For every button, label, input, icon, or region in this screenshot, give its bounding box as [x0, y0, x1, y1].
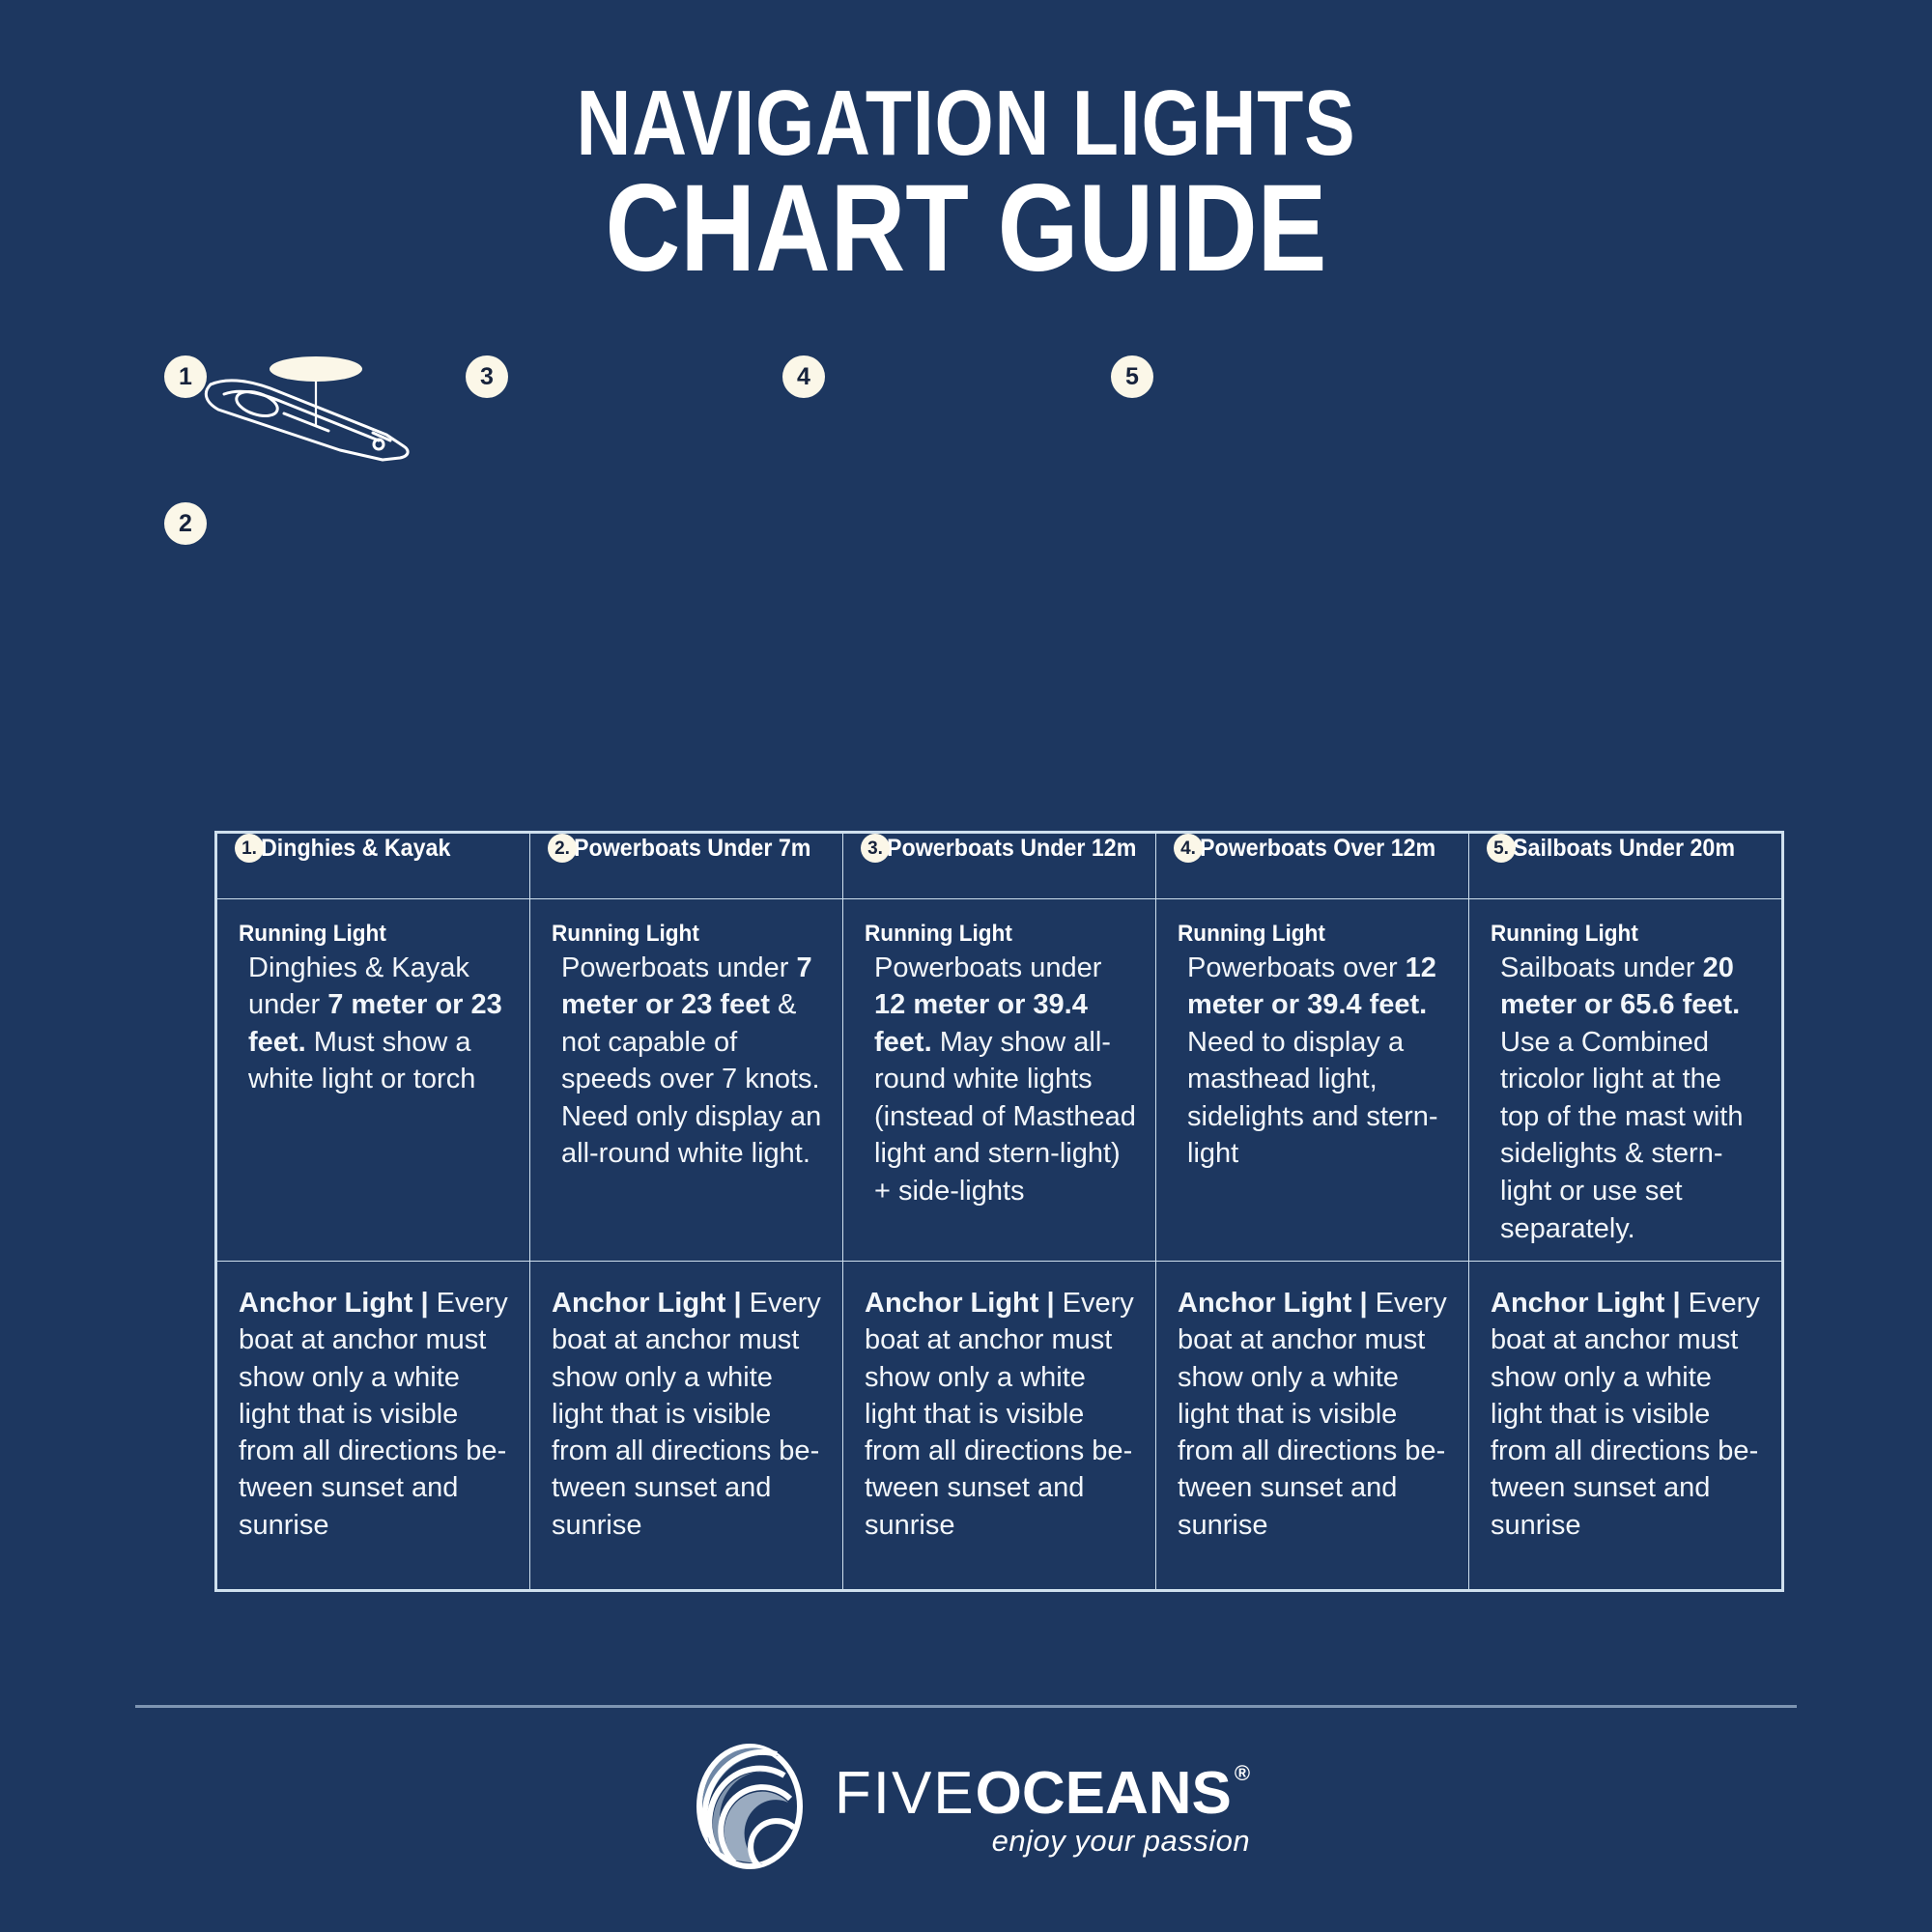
column-number-2: 2. — [548, 834, 577, 863]
column-number-4: 4. — [1174, 834, 1203, 863]
running-light-label-1: Running Light — [239, 921, 496, 948]
badge-3: 3 — [466, 355, 508, 398]
anchor-light-cell-1: Anchor Light | Every boat at anchor must… — [217, 1262, 530, 1590]
anchor-light-label-1: Anchor Light | — [239, 1288, 429, 1319]
anchor-light-cell-2: Anchor Light | Every boat at anchor must… — [530, 1262, 843, 1590]
running-light-label-3: Running Light — [865, 921, 1122, 948]
column-header-5: 5. Sailboats Under 20m — [1469, 834, 1782, 899]
anchor-light-text-2: Anchor Light | Every boat at anchor must… — [552, 1285, 825, 1544]
badge-1: 1 — [164, 355, 207, 398]
page-title: NAVIGATION LIGHTS CHART GUIDE — [0, 77, 1932, 294]
anchor-light-body-4: Every boat at anchor must show only a wh… — [1178, 1288, 1447, 1541]
anchor-light-text-3: Anchor Light | Every boat at anchor must… — [865, 1285, 1138, 1544]
anchor-light-label-3: Anchor Light | — [865, 1288, 1055, 1319]
badge-5: 5 — [1111, 355, 1153, 398]
anchor-light-cell-4: Anchor Light | Every boat at anchor must… — [1156, 1262, 1469, 1590]
brand-five: FIVE — [835, 1759, 976, 1828]
title-line-1: NAVIGATION LIGHTS — [174, 77, 1758, 170]
anchor-light-label-4: Anchor Light | — [1178, 1288, 1368, 1319]
running-light-cell-4: Running Light Powerboats over 12 meter o… — [1156, 899, 1469, 1262]
running-light-cell-2: Running Light Powerboats under 7 meter o… — [530, 899, 843, 1262]
kayak-illustration — [206, 356, 408, 460]
running-light-label-5: Running Light — [1491, 921, 1747, 948]
running-light-text-5: Sailboats under 20 meter or 65.6 feet. U… — [1491, 950, 1764, 1248]
column-number-3: 3. — [861, 834, 890, 863]
running-light-text-3: Powerboats under 12 meter or 39.4 feet. … — [865, 950, 1138, 1210]
registered-trademark-icon: ® — [1235, 1763, 1250, 1784]
running-light-row: Running Light Dinghies & Kayak under 7 m… — [217, 899, 1782, 1262]
column-header-1: 1. Dinghies & Kayak — [217, 834, 530, 899]
anchor-light-cell-3: Anchor Light | Every boat at anchor must… — [843, 1262, 1156, 1590]
brand-logo: FIVE OCEANS ® enjoy your passion — [0, 1739, 1932, 1879]
anchor-light-text-4: Anchor Light | Every boat at anchor must… — [1178, 1285, 1451, 1544]
title-line-2: CHART GUIDE — [155, 164, 1777, 294]
anchor-light-body-1: Every boat at anchor must show only a wh… — [239, 1288, 508, 1541]
badge-2: 2 — [164, 502, 207, 545]
column-label-1: Dinghies & Kayak — [261, 835, 450, 863]
column-header-4: 4. Powerboats Over 12m — [1156, 834, 1469, 899]
running-light-text-4: Powerboats over 12 meter or 39.4 feet. N… — [1178, 950, 1451, 1173]
boat-illustration-band: .ln { fill:none; stroke:#ffffff; stroke-… — [0, 280, 1932, 821]
brand-tagline: enjoy your passion — [835, 1824, 1250, 1859]
running-light-text-2: Powerboats under 7 meter or 23 feet & no… — [552, 950, 825, 1173]
brand-oceans: OCEANS — [976, 1759, 1232, 1828]
badge-4: 4 — [782, 355, 825, 398]
five-oceans-emblem-icon — [682, 1739, 817, 1879]
anchor-light-body-2: Every boat at anchor must show only a wh… — [552, 1288, 821, 1541]
running-light-label-2: Running Light — [552, 921, 809, 948]
running-light-text-1: Dinghies & Kayak under 7 meter or 23 fee… — [239, 950, 512, 1098]
running-light-cell-1: Running Light Dinghies & Kayak under 7 m… — [217, 899, 530, 1262]
anchor-light-body-3: Every boat at anchor must show only a wh… — [865, 1288, 1134, 1541]
table-header-row: 1. Dinghies & Kayak 2. Powerboats Under … — [217, 834, 1782, 899]
column-label-3: Powerboats Under 12m — [887, 835, 1136, 863]
running-light-cell-3: Running Light Powerboats under 12 meter … — [843, 899, 1156, 1262]
anchor-light-cell-5: Anchor Light | Every boat at anchor must… — [1469, 1262, 1782, 1590]
anchor-light-text-1: Anchor Light | Every boat at anchor must… — [239, 1285, 512, 1544]
column-label-2: Powerboats Under 7m — [574, 835, 810, 863]
brand-wordmark: FIVE OCEANS ® — [835, 1759, 1250, 1828]
column-header-3: 3. Powerboats Under 12m — [843, 834, 1156, 899]
nav-lights-table: 1. Dinghies & Kayak 2. Powerboats Under … — [214, 831, 1784, 1592]
running-light-cell-5: Running Light Sailboats under 20 meter o… — [1469, 899, 1782, 1262]
column-header-2: 2. Powerboats Under 7m — [530, 834, 843, 899]
column-label-5: Sailboats Under 20m — [1513, 835, 1735, 863]
anchor-light-text-5: Anchor Light | Every boat at anchor must… — [1491, 1285, 1764, 1544]
running-light-label-4: Running Light — [1178, 921, 1435, 948]
column-number-1: 1. — [235, 834, 264, 863]
column-number-5: 5. — [1487, 834, 1516, 863]
anchor-light-body-5: Every boat at anchor must show only a wh… — [1491, 1288, 1760, 1541]
footer-divider — [135, 1705, 1797, 1708]
column-label-4: Powerboats Over 12m — [1200, 835, 1435, 863]
anchor-light-label-2: Anchor Light | — [552, 1288, 742, 1319]
anchor-light-row: Anchor Light | Every boat at anchor must… — [217, 1262, 1782, 1590]
anchor-light-label-5: Anchor Light | — [1491, 1288, 1681, 1319]
